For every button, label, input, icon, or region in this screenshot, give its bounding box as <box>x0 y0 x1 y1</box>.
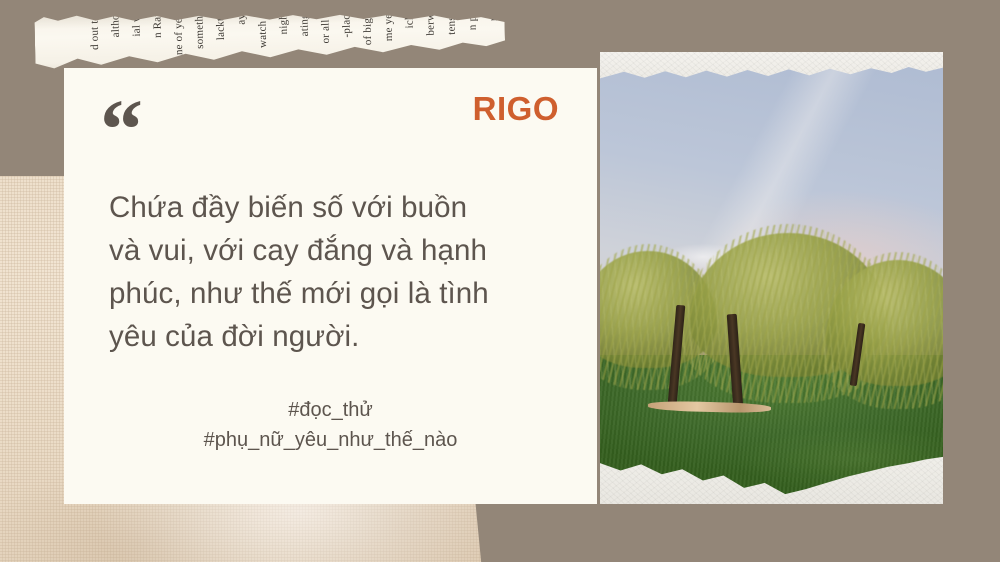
quote-card: RIGO “ Chứa đầy biến số với buồn và vui,… <box>64 68 597 504</box>
page-text-fragment: d out to <box>88 15 101 50</box>
willow-canopy <box>826 260 943 387</box>
torn-strip-text-fragments: d out to altho ial w n Rat ne of yea som… <box>88 4 505 57</box>
page-text-fragment: watch ti <box>256 11 269 48</box>
page-text-fragment: ne of yea <box>172 13 185 55</box>
poster-canvas: RIGO “ Chứa đầy biến số với buồn và vui,… <box>0 0 1000 562</box>
torn-book-page-strip: d out to altho ial w n Rat ne of yea som… <box>34 2 505 78</box>
page-text-fragment: of big-c <box>361 9 374 45</box>
page-text-fragment: me yea <box>382 8 395 41</box>
hashtag-group: #đọc_thử #phụ_nữ_yêu_như_thế_nào <box>64 395 597 456</box>
page-text-fragment: night <box>277 11 289 35</box>
page-text-fragment: ay. <box>235 12 247 25</box>
page-text-fragment: ating, <box>298 10 311 36</box>
page-text-fragment: lackth <box>214 12 227 40</box>
quote-text: Chứa đầy biến số với buồn và vui, với ca… <box>109 186 559 358</box>
page-text-fragment: n Rat <box>151 13 164 38</box>
quote-line: yêu của đời người. <box>109 315 559 358</box>
page-text-fragment: -place <box>340 9 353 37</box>
rigo-logo: RIGO <box>473 90 559 128</box>
page-text-fragment: or all it <box>319 10 332 44</box>
page-text-fragment: somethi <box>193 12 206 48</box>
quote-line: và vui, với cay đắng và hạnh <box>109 229 559 272</box>
willow-tree-photo <box>600 52 943 504</box>
page-text-fragment: ich l <box>403 8 415 28</box>
quote-line: Chứa đầy biến số với buồn <box>109 186 559 229</box>
hashtag: #phụ_nữ_yêu_như_thế_nào <box>64 425 597 455</box>
page-text-fragment: berwe <box>424 8 437 36</box>
quote-line: phúc, như thế mới gọi là tình <box>109 272 559 315</box>
hashtag: #đọc_thử <box>64 395 597 425</box>
page-text-fragment: tensio <box>445 7 458 35</box>
quote-mark-icon: “ <box>100 86 143 172</box>
page-text-fragment: n par <box>466 7 478 31</box>
page-text-fragment: altho <box>109 14 121 37</box>
page-text-fragment: ial w <box>130 14 142 37</box>
page-text-fragment: ner <box>487 6 499 21</box>
